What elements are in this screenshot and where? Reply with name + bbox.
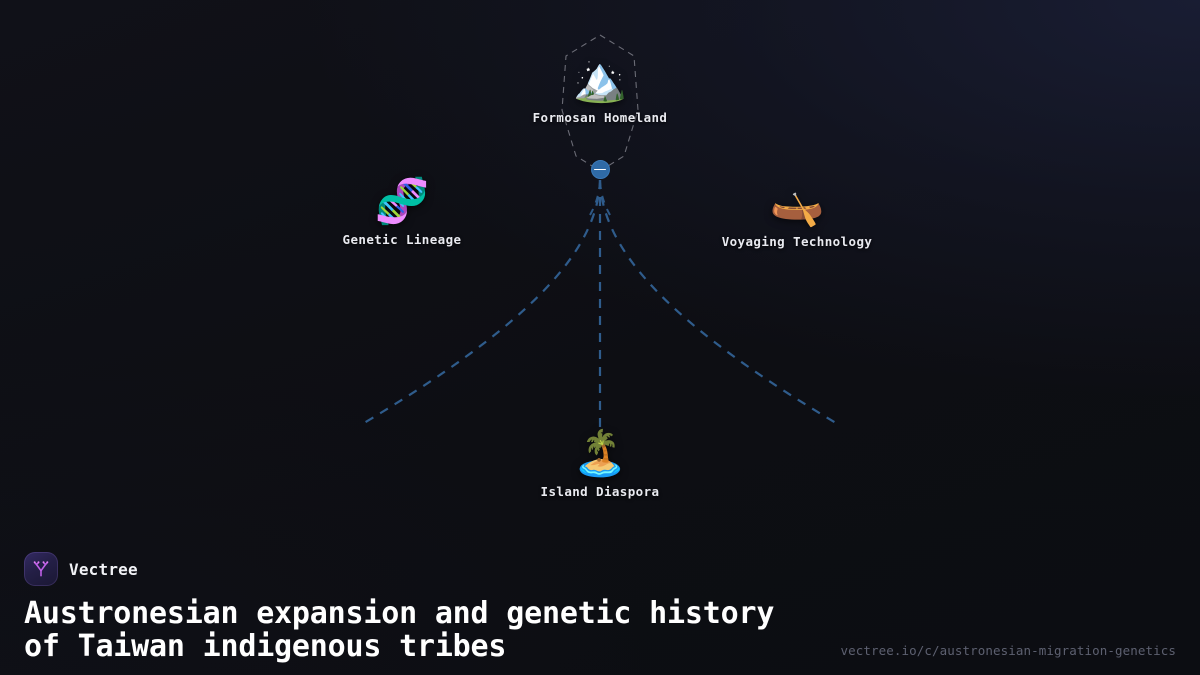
graph-node-island-diaspora[interactable]: 🏝️ Island Diaspora <box>470 426 730 499</box>
graph-node-label: Island Diaspora <box>470 484 730 499</box>
title-row: Austronesian expansion and genetic histo… <box>24 597 1176 663</box>
footer-bar: Vectree Austronesian expansion and genet… <box>0 530 1200 675</box>
collapse-minus-icon <box>594 169 606 171</box>
collapse-node-toggle[interactable] <box>591 160 610 179</box>
dna-icon: 🧬 <box>272 174 532 230</box>
brand-name: Vectree <box>69 560 138 579</box>
graph-node-voyaging-technology[interactable]: 🛶 Voyaging Technology <box>667 176 927 249</box>
graph-node-genetic-lineage[interactable]: 🧬 Genetic Lineage <box>272 174 532 247</box>
page-title: Austronesian expansion and genetic histo… <box>24 597 814 663</box>
graph-node-label: Formosan Homeland <box>470 110 730 125</box>
vectree-tree-logo-icon <box>24 552 58 586</box>
graph-canvas[interactable]: 🏔️ Formosan Homeland 🧬 Genetic Lineage 🛶… <box>0 0 1200 530</box>
desert-island-icon: 🏝️ <box>470 426 730 482</box>
graph-node-label: Voyaging Technology <box>667 234 927 249</box>
graph-node-formosan-homeland[interactable]: 🏔️ Formosan Homeland <box>470 52 730 125</box>
page-url: vectree.io/c/austronesian-migration-gene… <box>840 643 1176 663</box>
graph-node-label: Genetic Lineage <box>272 232 532 247</box>
brand-row[interactable]: Vectree <box>24 552 1176 586</box>
snow-capped-mountain-icon: 🏔️ <box>470 52 730 108</box>
canoe-icon: 🛶 <box>667 176 927 232</box>
